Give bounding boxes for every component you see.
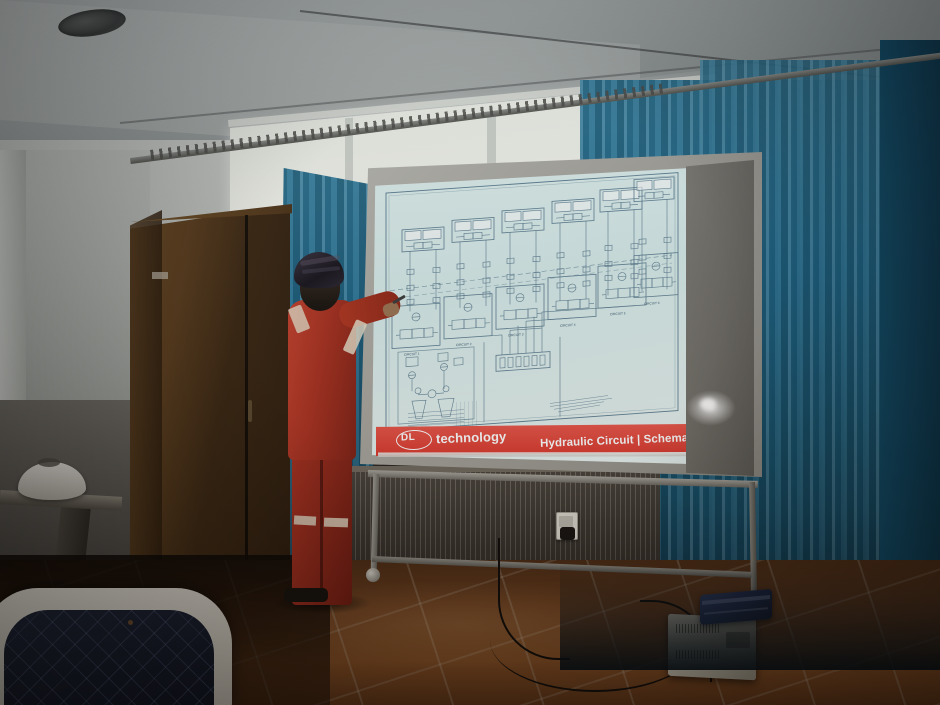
presenter-leg-seam (320, 455, 323, 595)
svg-text:CIRCUIT 3: CIRCUIT 3 (508, 332, 524, 337)
svg-text:CIRCUIT 6: CIRCUIT 6 (644, 301, 660, 306)
slide-banner-underline (378, 452, 686, 457)
presenter-leg-stripe (294, 515, 316, 525)
presentation-room-photo: CIRCUIT 1 CIRCUIT 2 CIRCUIT 3 CIRCUIT 4 … (0, 0, 940, 705)
hydraulic-schematic-drawing: CIRCUIT 1 CIRCUIT 2 CIRCUIT 3 CIRCUIT 4 … (372, 168, 690, 464)
presenter-shoes (284, 588, 328, 602)
svg-text:CIRCUIT 1: CIRCUIT 1 (404, 352, 420, 357)
chair-mark (128, 620, 133, 625)
presenter-leg-stripe (324, 518, 348, 528)
board-glare-hotspot (700, 398, 716, 410)
projected-slide: CIRCUIT 1 CIRCUIT 2 CIRCUIT 3 CIRCUIT 4 … (372, 168, 690, 464)
logo-mark-text: DL (401, 432, 427, 447)
logo-wordmark: technology (436, 429, 507, 446)
board-caster-left (366, 568, 380, 582)
svg-text:CIRCUIT 5: CIRCUIT 5 (610, 311, 626, 316)
board-side-panel (686, 160, 754, 476)
svg-text:CIRCUIT 2: CIRCUIT 2 (456, 342, 472, 347)
helmet-crest (38, 458, 60, 467)
cabinet-label-plate (152, 272, 168, 279)
chair-cushion (4, 610, 214, 705)
socket-face (559, 516, 573, 527)
curtain-shadow (560, 560, 940, 670)
svg-text:CIRCUIT 4: CIRCUIT 4 (560, 323, 576, 328)
cabinet-handle[interactable] (248, 400, 252, 422)
cabinet-side-panel (130, 210, 162, 598)
